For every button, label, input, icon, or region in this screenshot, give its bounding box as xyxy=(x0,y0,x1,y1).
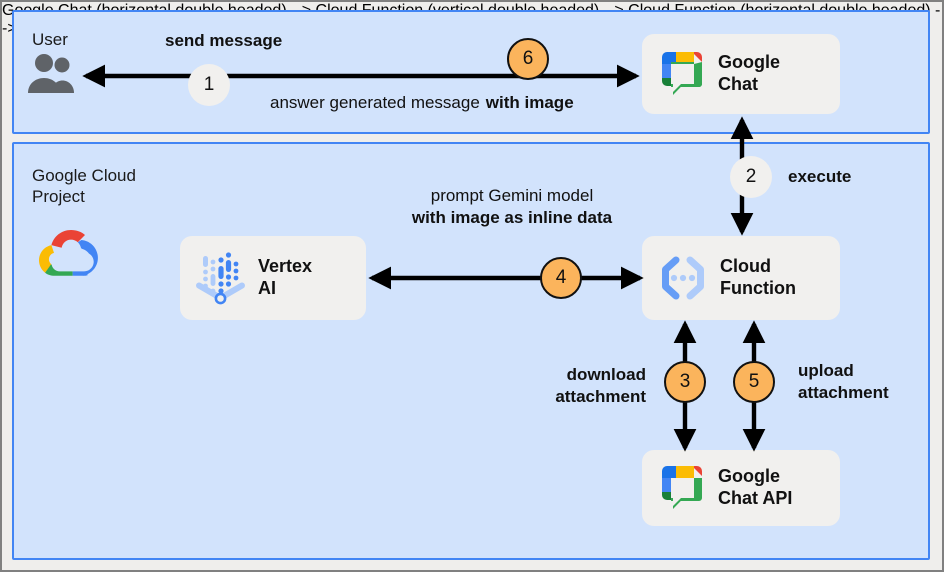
diagram-canvas: User Google Cloud Project xyxy=(0,0,944,572)
panel-user-label: User xyxy=(32,30,68,51)
edge-label-prompt-regular: prompt Gemini model xyxy=(410,185,614,207)
edge-label-answer-generated-message: answer generated messagewith image xyxy=(270,92,574,114)
step-badge-2: 2 xyxy=(730,156,772,198)
vertex-ai-icon xyxy=(194,250,248,306)
edge-label-execute: execute xyxy=(788,166,851,188)
node-google-chat-api-title: Google Chat API xyxy=(718,466,792,509)
step-badge-1: 1 xyxy=(188,64,230,106)
google-chat-icon xyxy=(656,462,708,514)
edge-label-send-message: send message xyxy=(165,30,282,52)
edge-label-download-attachment: download attachment xyxy=(498,364,646,408)
node-cloud-function-title: Cloud Function xyxy=(720,256,796,299)
step-badge-3: 3 xyxy=(664,361,706,403)
edge-label-prompt-gemini: prompt Gemini modelwith image as inline … xyxy=(410,185,614,229)
edge-label-answer-regular: answer generated message xyxy=(270,93,480,112)
node-cloud-function[interactable]: Cloud Function xyxy=(642,236,840,320)
google-chat-icon xyxy=(656,48,708,100)
node-vertex-ai-title: Vertex AI xyxy=(258,256,312,299)
step-badge-4: 4 xyxy=(540,257,582,299)
step-badge-6: 6 xyxy=(507,38,549,80)
edge-label-prompt-strong: with image as inline data xyxy=(410,207,614,229)
panel-cloud-label: Google Cloud Project xyxy=(32,166,136,207)
edge-label-answer-strong: with image xyxy=(486,93,574,112)
edge-label-upload-attachment: upload attachment xyxy=(798,360,889,404)
step-badge-5: 5 xyxy=(733,361,775,403)
node-google-chat-title: Google Chat xyxy=(718,52,780,95)
node-vertex-ai[interactable]: Vertex AI xyxy=(180,236,366,320)
node-google-chat[interactable]: Google Chat xyxy=(642,34,840,114)
node-google-chat-api[interactable]: Google Chat API xyxy=(642,450,840,526)
cloud-function-icon xyxy=(656,251,710,305)
